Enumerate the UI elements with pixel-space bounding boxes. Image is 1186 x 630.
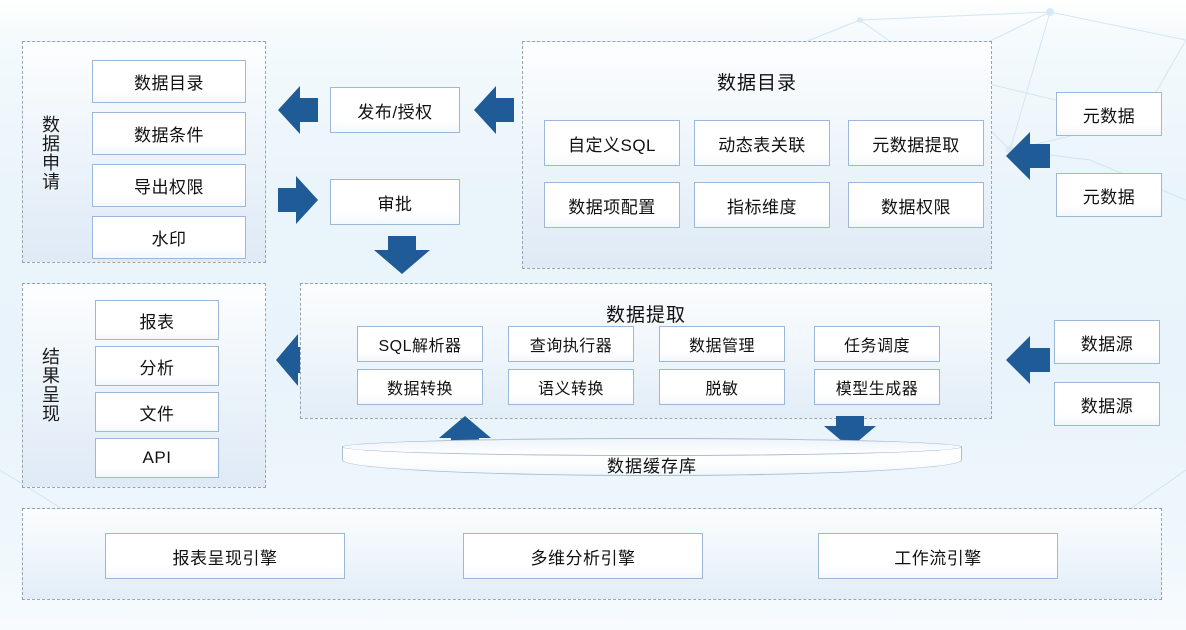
data-cache-label: 数据缓存库: [342, 452, 962, 476]
data-catalog-item-0[interactable]: 自定义SQL: [544, 120, 680, 166]
arrow-left-from-datasource: [1004, 332, 1052, 388]
data-extract-item-1[interactable]: 查询执行器: [508, 326, 634, 362]
panel-data-extract-title: 数据提取: [301, 300, 991, 327]
panel-result-presentation-label: 结果呈现: [34, 305, 60, 465]
data-catalog-item-4[interactable]: 指标维度: [694, 182, 830, 228]
arrow-left-to-request: [276, 82, 320, 138]
result-item-1[interactable]: 分析: [95, 346, 219, 386]
data-cache-cylinder: 数据缓存库: [342, 438, 962, 476]
engine-item-1[interactable]: 多维分析引擎: [463, 533, 703, 579]
data-source-1[interactable]: 数据源: [1054, 382, 1160, 426]
data-catalog-item-3[interactable]: 数据项配置: [544, 182, 680, 228]
result-item-2[interactable]: 文件: [95, 392, 219, 432]
arrow-right-to-approval: [276, 174, 320, 226]
data-source-0[interactable]: 数据源: [1054, 320, 1160, 364]
engine-item-0[interactable]: 报表呈现引擎: [105, 533, 345, 579]
data-catalog-item-5[interactable]: 数据权限: [848, 182, 984, 228]
metadata-source-1[interactable]: 元数据: [1056, 173, 1162, 217]
data-extract-item-6[interactable]: 脱敏: [659, 369, 785, 405]
data-request-item-3[interactable]: 水印: [92, 216, 246, 259]
arrow-left-from-metadata: [1004, 128, 1052, 184]
panel-data-request-label: 数据申请: [34, 58, 60, 248]
result-item-3[interactable]: API: [95, 438, 219, 478]
data-request-item-1[interactable]: 数据条件: [92, 112, 246, 155]
publish-authorize-box[interactable]: 发布/授权: [330, 87, 460, 133]
data-extract-item-3[interactable]: 任务调度: [814, 326, 940, 362]
approval-box[interactable]: 审批: [330, 179, 460, 225]
panel-data-catalog-title: 数据目录: [523, 68, 991, 95]
data-extract-item-2[interactable]: 数据管理: [659, 326, 785, 362]
data-extract-item-0[interactable]: SQL解析器: [357, 326, 483, 362]
arrow-left-from-catalog: [472, 82, 516, 138]
data-request-item-0[interactable]: 数据目录: [92, 60, 246, 103]
metadata-source-0[interactable]: 元数据: [1056, 92, 1162, 136]
data-extract-item-5[interactable]: 语义转换: [508, 369, 634, 405]
arrow-down-to-extract: [372, 234, 432, 276]
data-request-item-2[interactable]: 导出权限: [92, 164, 246, 207]
data-extract-item-4[interactable]: 数据转换: [357, 369, 483, 405]
architecture-diagram: 数据申请 数据目录 数据条件 导出权限 水印 发布/授权 审批 数据目录 自定义…: [0, 0, 1186, 630]
data-catalog-item-2[interactable]: 元数据提取: [848, 120, 984, 166]
engine-item-2[interactable]: 工作流引擎: [818, 533, 1058, 579]
data-extract-item-7[interactable]: 模型生成器: [814, 369, 940, 405]
result-item-0[interactable]: 报表: [95, 300, 219, 340]
data-catalog-item-1[interactable]: 动态表关联: [694, 120, 830, 166]
